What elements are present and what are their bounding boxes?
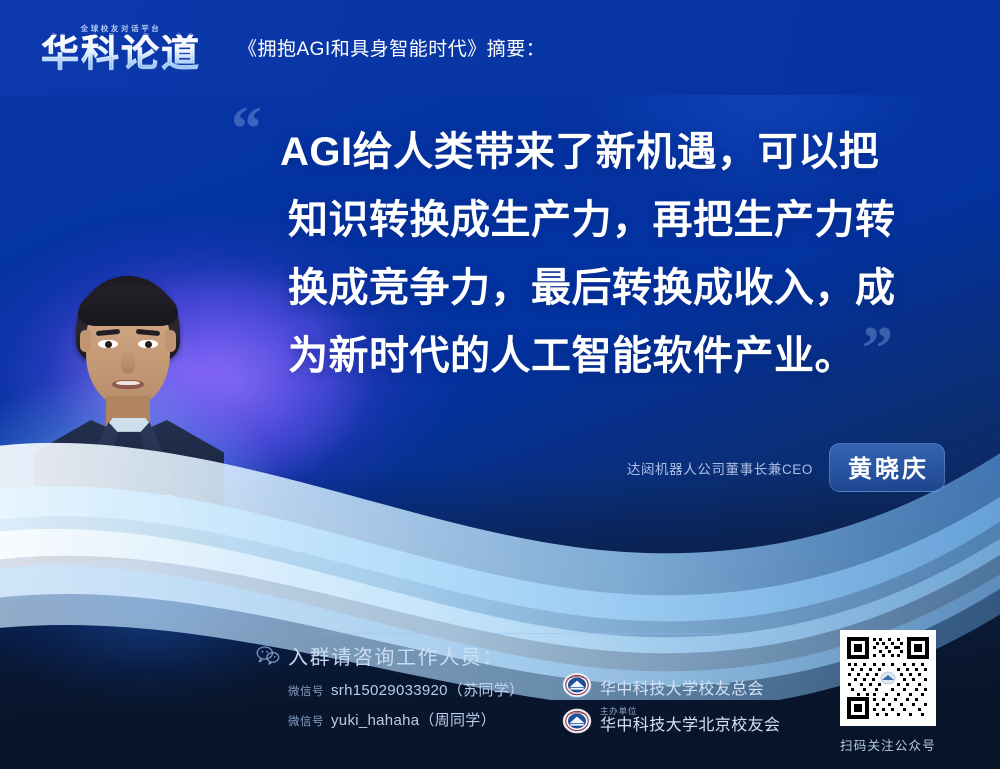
quote-line: 知识转换成生产力，再把生产力转 — [280, 186, 940, 254]
organization-name: 华中科技大学校友总会 — [600, 681, 764, 699]
portrait-nose — [121, 350, 135, 374]
quote-line: 为新时代的人工智能软件产业。 — [280, 322, 940, 390]
speaker-role: 达闼机器人公司董事长兼CEO — [627, 458, 813, 478]
organization-kind: 主办单位 — [600, 707, 780, 716]
organization-text: 指导单位 华中科技大学校友总会 — [600, 671, 764, 699]
contact-label: 微信号 — [288, 683, 324, 699]
wechat-icon — [256, 645, 280, 665]
qr-caption: 扫码关注公众号 — [840, 735, 936, 754]
organization-row: 指导单位 华中科技大学校友总会 — [562, 670, 780, 700]
portrait-ear-right — [165, 330, 176, 352]
speaker-name-badge: 黄晓庆 — [829, 443, 945, 492]
brand-logo[interactable]: 全球校友对话平台 华科论道 — [26, 17, 216, 79]
portrait-eye-left — [98, 340, 118, 348]
attribution: 达闼机器人公司董事长兼CEO 黄晓庆 — [627, 443, 945, 492]
poster-canvas: 全球校友对话平台 华科论道 《拥抱AGI和具身智能时代》摘要： “ AGI给人类… — [0, 0, 1000, 769]
organization-text: 主办单位 华中科技大学北京校友会 — [600, 707, 780, 735]
hust-emblem-icon — [562, 706, 592, 736]
contact-block: 入群请咨询工作人员： 微信号 srh15029033920（苏同学） 微信号 y… — [288, 641, 524, 739]
quote-line: 换成竞争力，最后转换成收入，成 — [280, 254, 940, 322]
qr-block: 扫码关注公众号 — [840, 630, 936, 754]
logo-tagline: 全球校友对话平台 — [81, 23, 162, 34]
contact-value[interactable]: yuki_hahaha（周同学） — [331, 709, 496, 730]
quote-open-mark: “ — [231, 98, 260, 160]
quote-close-mark: ” — [862, 318, 891, 380]
organization-name: 华中科技大学北京校友会 — [600, 717, 780, 735]
qr-code[interactable] — [840, 630, 936, 726]
page-title: 《拥抱AGI和具身智能时代》摘要： — [238, 34, 545, 61]
organization-kind: 指导单位 — [600, 671, 764, 680]
quote-line: AGI给人类带来了新机遇，可以把 — [280, 118, 940, 186]
contact-row: 微信号 yuki_hahaha（周同学） — [288, 709, 524, 730]
header-bar: 全球校友对话平台 华科论道 《拥抱AGI和具身智能时代》摘要： — [0, 0, 1000, 95]
qr-code-image — [845, 635, 931, 721]
section-divider — [284, 633, 799, 634]
hust-emblem-icon — [562, 670, 592, 700]
organization-row: 主办单位 华中科技大学北京校友会 — [562, 706, 780, 736]
logo-wordmark: 华科论道 — [41, 35, 201, 73]
contact-label: 微信号 — [288, 713, 324, 729]
portrait-mouth — [112, 380, 144, 389]
contact-row: 微信号 srh15029033920（苏同学） — [288, 679, 524, 700]
contact-value[interactable]: srh15029033920（苏同学） — [331, 679, 524, 700]
portrait-eye-right — [138, 340, 158, 348]
organizations-block: 指导单位 华中科技大学校友总会 主办单位 华中科技大学北京校友会 — [562, 670, 780, 742]
portrait-ear-left — [80, 330, 91, 352]
contact-title: 入群请咨询工作人员： — [288, 641, 524, 670]
quote-body: AGI给人类带来了新机遇，可以把 知识转换成生产力，再把生产力转 换成竞争力，最… — [280, 118, 940, 390]
